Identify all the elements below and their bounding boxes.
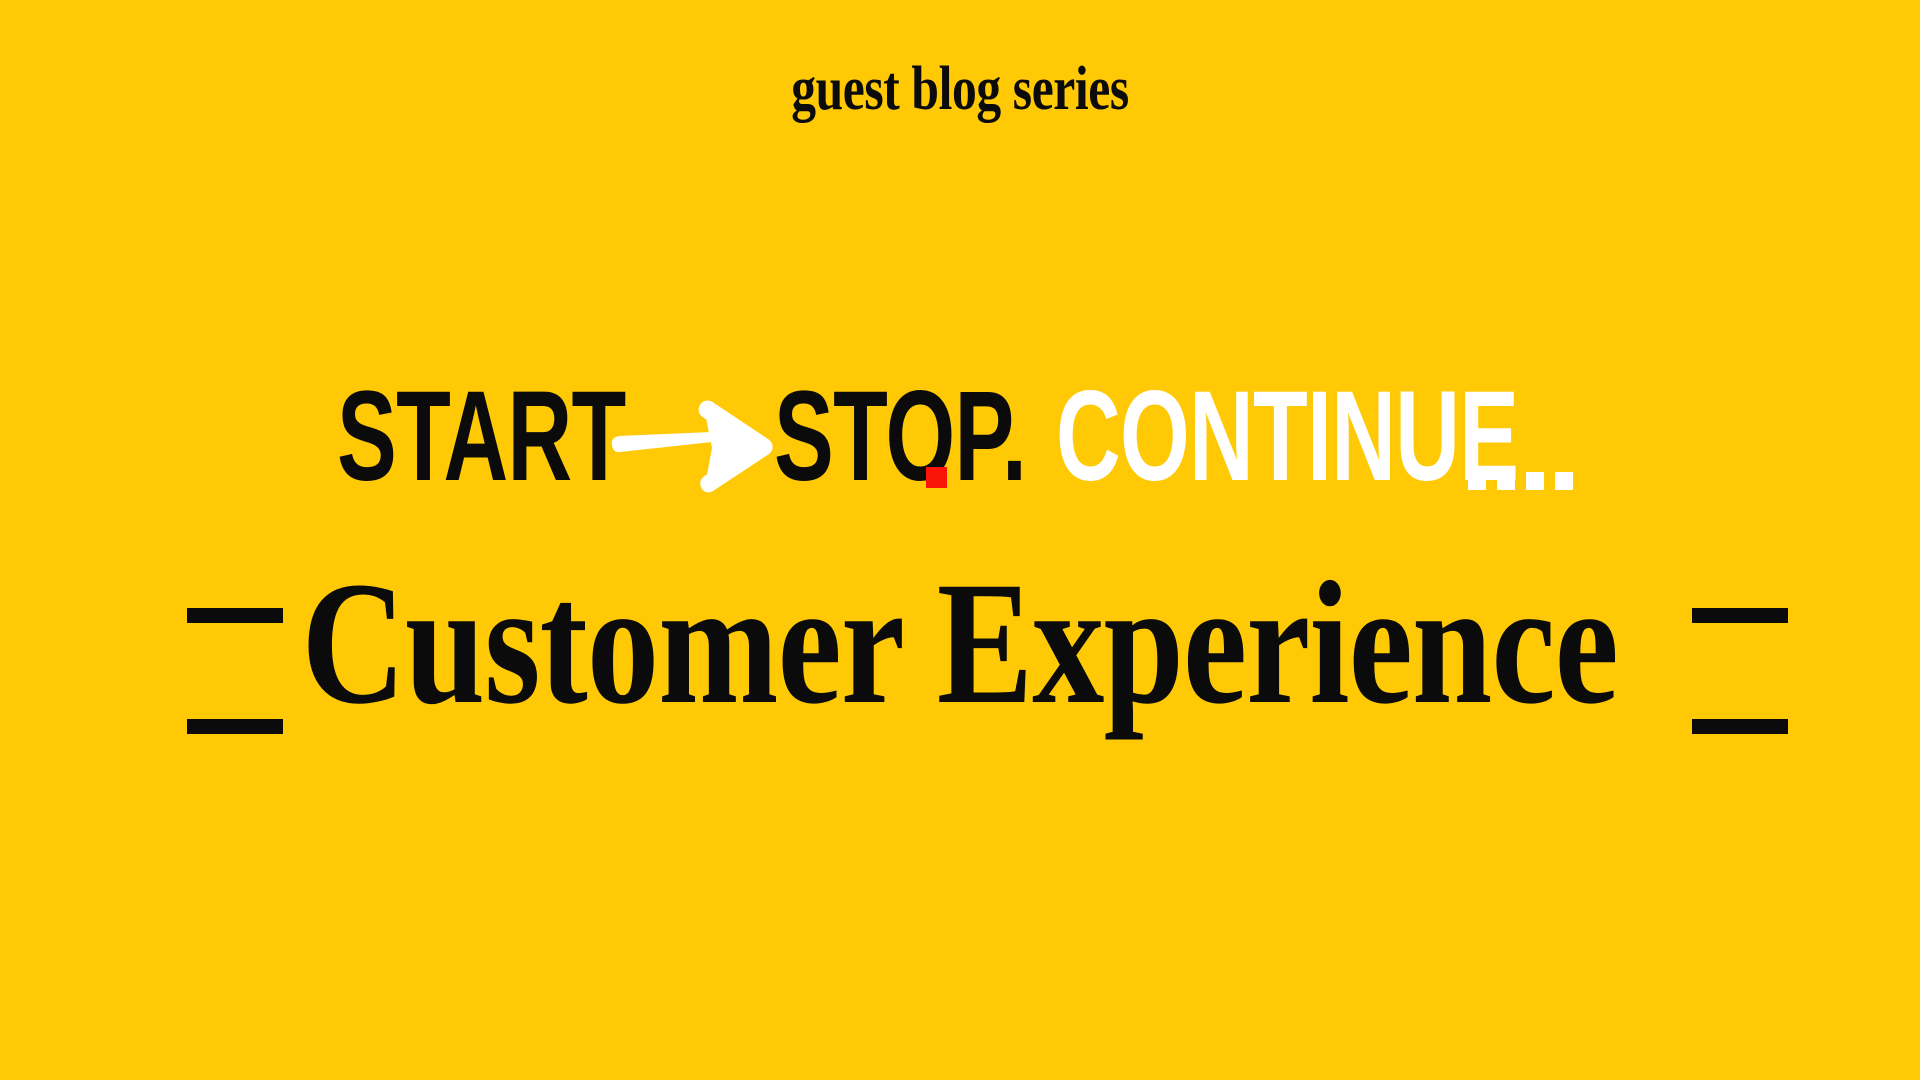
equals-bars-right-icon (1692, 582, 1788, 747)
right-arrow-icon (608, 392, 784, 496)
headline-text: Customer Experience (0, 556, 1920, 732)
ellipsis-dot (1468, 472, 1486, 490)
stop-red-period-icon (926, 467, 947, 488)
kicker-row: guest blog series (0, 58, 1920, 120)
ellipsis-dot (1526, 472, 1544, 490)
ellipsis-dot (1497, 472, 1515, 490)
verb-slot-continue: CONTINUE (1056, 366, 1556, 496)
continue-ellipsis-icon (1468, 472, 1573, 490)
verb-continue: CONTINUE (1056, 378, 1518, 496)
verb-stop: STOP. (774, 378, 1026, 496)
kicker-text: guest blog series (791, 58, 1129, 120)
verbs-row: START STOP. CONTINUE (0, 366, 1920, 496)
verb-slot-start: START (337, 366, 552, 496)
poster-canvas: guest blog series START STOP. CONTINUE (0, 0, 1920, 1080)
headline-row: Customer Experience (0, 582, 1920, 747)
verb-slot-stop: STOP. (774, 366, 964, 496)
headline-inner: Customer Experience (302, 556, 1618, 732)
ellipsis-dot (1555, 472, 1573, 490)
bar-top (1692, 608, 1788, 623)
bar-bottom (1692, 719, 1788, 734)
